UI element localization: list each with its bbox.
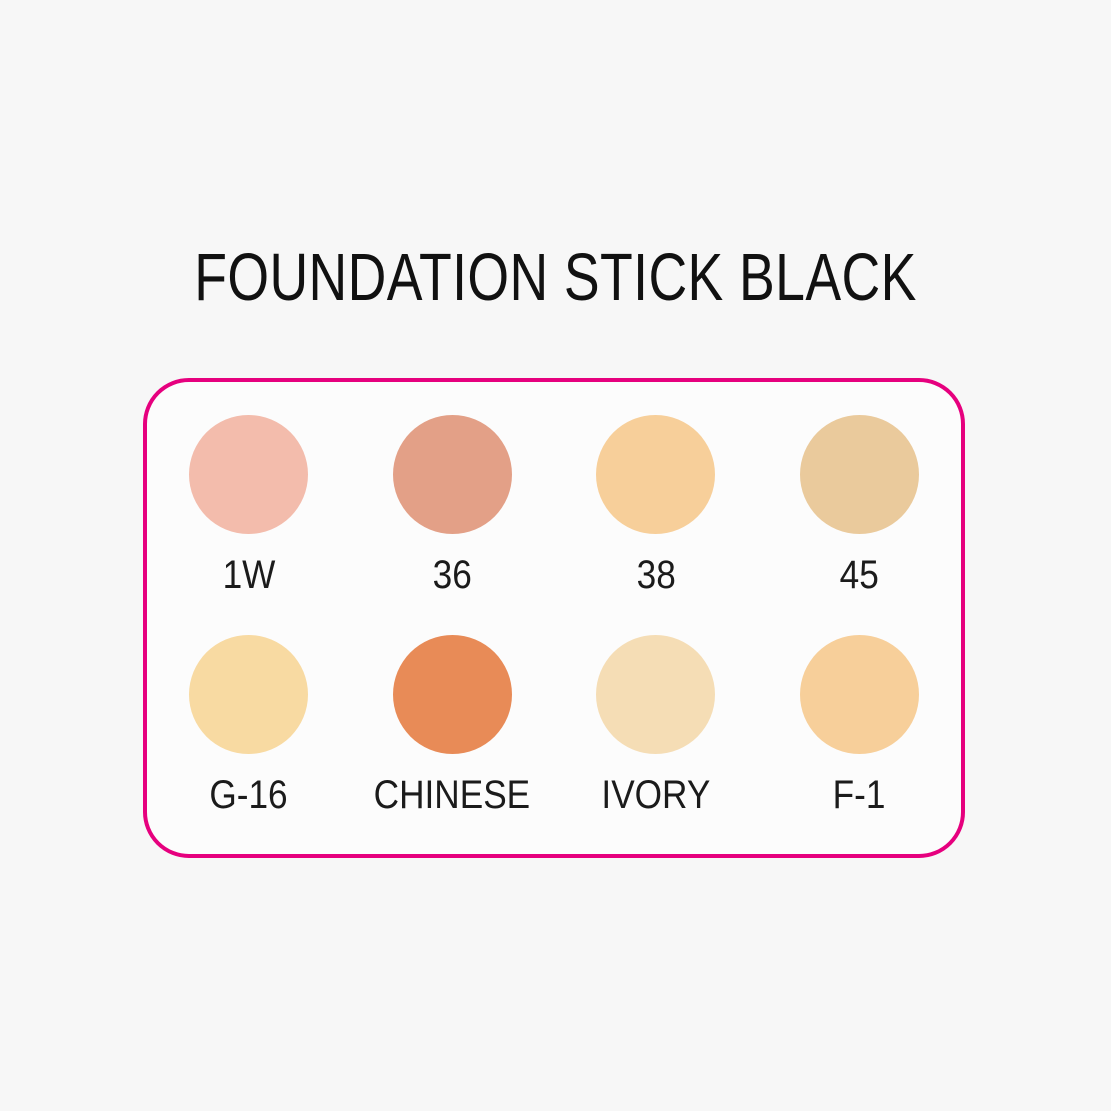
swatch-color-dot xyxy=(393,635,512,754)
swatch-cell-1w[interactable]: 1W xyxy=(149,415,349,597)
swatch-color-dot xyxy=(596,415,715,534)
swatch-color-dot xyxy=(189,635,308,754)
swatch-label: G-16 xyxy=(210,773,288,817)
swatch-color-dot xyxy=(596,635,715,754)
swatch-cell-ivory[interactable]: IVORY xyxy=(556,635,756,817)
swatch-row: G-16 CHINESE IVORY F-1 xyxy=(147,635,961,855)
swatch-color-dot xyxy=(189,415,308,534)
swatch-row: 1W 36 38 45 xyxy=(147,415,961,635)
swatch-color-dot xyxy=(800,415,919,534)
swatch-cell-38[interactable]: 38 xyxy=(556,415,756,597)
swatch-label: 36 xyxy=(433,553,472,597)
swatch-card: 1W 36 38 45 G-16 xyxy=(143,378,965,858)
swatch-label: 1W xyxy=(222,553,275,597)
swatch-cell-36[interactable]: 36 xyxy=(352,415,552,597)
swatch-color-dot xyxy=(393,415,512,534)
swatch-label: CHINESE xyxy=(374,773,530,817)
swatch-cell-g-16[interactable]: G-16 xyxy=(149,635,349,817)
swatch-cell-f-1[interactable]: F-1 xyxy=(759,635,959,817)
swatch-cell-45[interactable]: 45 xyxy=(759,415,959,597)
swatch-label: IVORY xyxy=(601,773,710,817)
swatch-color-dot xyxy=(800,635,919,754)
shade-chart-root: FOUNDATION STICK BLACK 1W 36 38 45 xyxy=(0,0,1111,1111)
swatch-label: 38 xyxy=(636,553,675,597)
page-title: FOUNDATION STICK BLACK xyxy=(111,238,1000,318)
swatch-label: F-1 xyxy=(833,773,886,817)
swatch-grid: 1W 36 38 45 G-16 xyxy=(147,382,961,854)
swatch-cell-chinese[interactable]: CHINESE xyxy=(352,635,552,817)
swatch-label: 45 xyxy=(840,553,879,597)
